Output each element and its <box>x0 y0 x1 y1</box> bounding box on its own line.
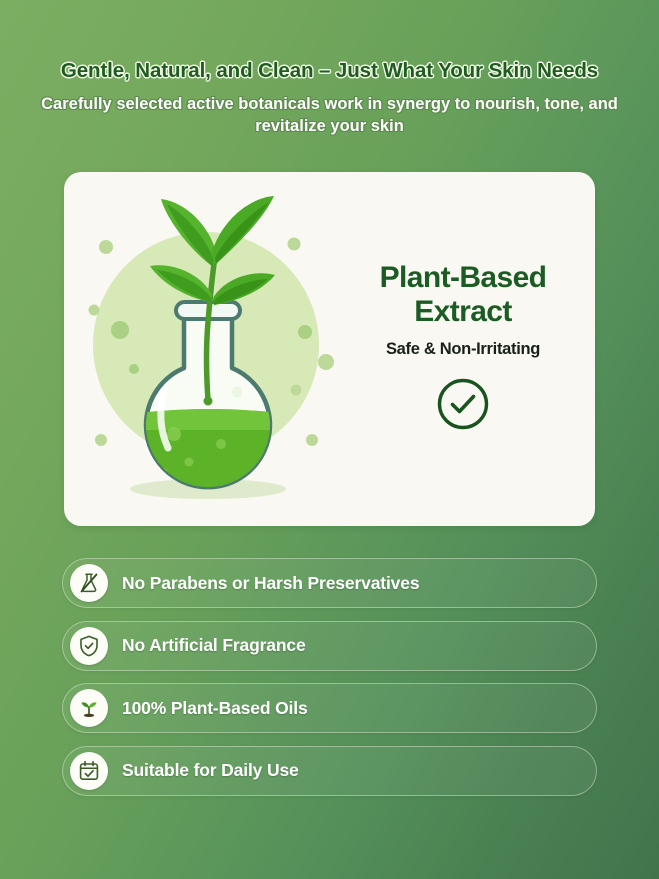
feature-list: No Parabens or Harsh Preservatives No Ar… <box>62 558 597 796</box>
feature-label: No Artificial Fragrance <box>122 635 306 656</box>
card-title-line2: Extract <box>414 295 512 328</box>
card-text-block: Plant-Based Extract Safe & Non-Irritatin… <box>349 261 595 438</box>
header: Gentle, Natural, and Clean – Just What Y… <box>0 0 659 138</box>
feature-item-no-fragrance[interactable]: No Artificial Fragrance <box>62 621 597 671</box>
card-subtitle: Safe & Non-Irritating <box>386 340 540 359</box>
feature-label: 100% Plant-Based Oils <box>122 698 308 719</box>
plant-based-extract-card: Plant-Based Extract Safe & Non-Irritatin… <box>64 172 595 526</box>
calendar-check-icon <box>70 752 108 790</box>
no-chemicals-flask-icon <box>70 564 108 602</box>
feature-item-plant-based-oils[interactable]: 100% Plant-Based Oils <box>62 683 597 733</box>
flask-with-plant-illustration <box>64 172 349 526</box>
feature-label: No Parabens or Harsh Preservatives <box>122 573 419 594</box>
feature-item-daily-use[interactable]: Suitable for Daily Use <box>62 746 597 796</box>
page-subheadline: Carefully selected active botanicals wor… <box>30 94 630 138</box>
card-title: Plant-Based Extract <box>380 261 547 329</box>
shield-check-icon <box>70 627 108 665</box>
page-headline: Gentle, Natural, and Clean – Just What Y… <box>18 58 641 84</box>
feature-label: Suitable for Daily Use <box>122 760 299 781</box>
feature-item-no-parabens[interactable]: No Parabens or Harsh Preservatives <box>62 558 597 608</box>
card-title-line1: Plant-Based <box>380 261 547 294</box>
circle-check-icon <box>435 376 491 437</box>
seedling-icon <box>70 689 108 727</box>
